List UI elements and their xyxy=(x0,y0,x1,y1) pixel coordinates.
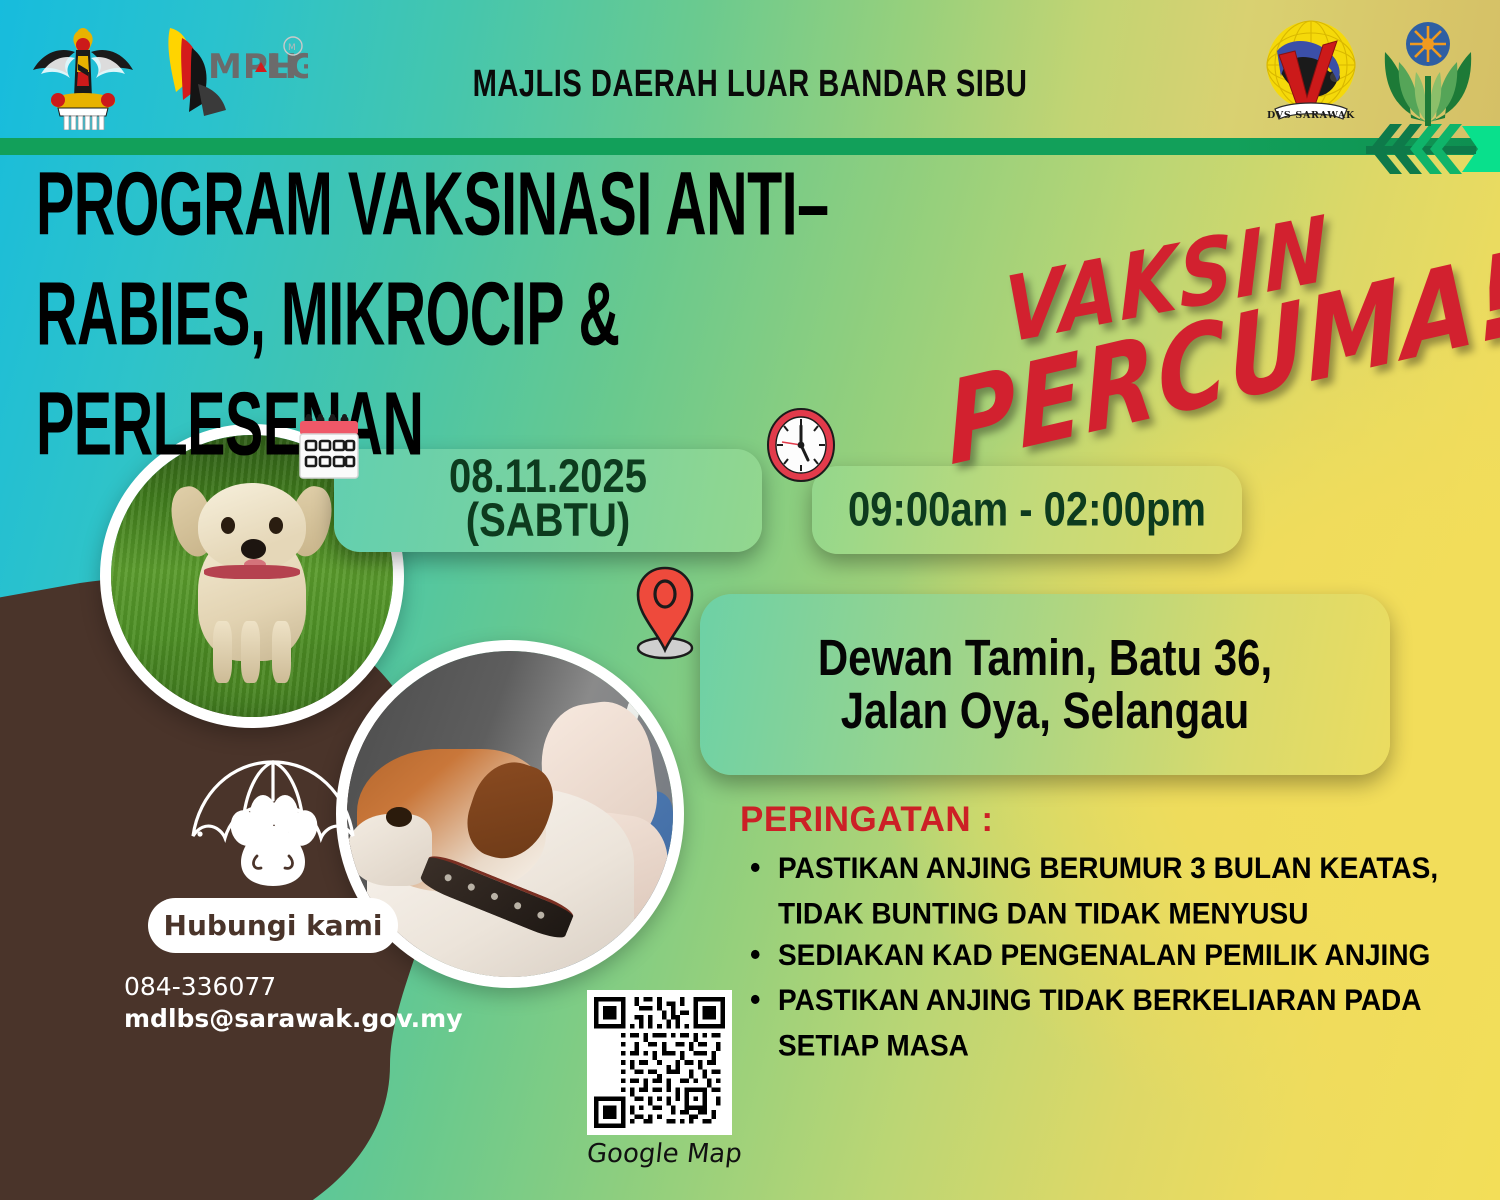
qr-code-icon[interactable] xyxy=(587,990,732,1135)
event-venue-pill: Dewan Tamin, Batu 36, Jalan Oya, Selanga… xyxy=(700,594,1390,775)
map-pin-icon xyxy=(629,564,701,662)
dvs-sarawak-logo-icon: DVS SARAWAK xyxy=(1255,15,1367,130)
poster-headline: PROGRAM VAKSINASI ANTI– RABIES, MIKROCIP… xyxy=(36,160,1076,490)
event-time: 09:00am - 02:00pm xyxy=(848,483,1206,537)
agriculture-ministry-logo-icon xyxy=(1375,18,1480,128)
header-green-divider xyxy=(0,138,1500,155)
reminder-section: PERINGATAN : PASTIKAN ANJING BERUMUR 3 B… xyxy=(740,800,1460,1065)
clock-icon xyxy=(766,408,836,482)
venue-line-2: Jalan Oya, Selangau xyxy=(818,679,1272,743)
reminder-title: PERINGATAN : xyxy=(740,800,1460,840)
reminder-list: PASTIKAN ANJING BERUMUR 3 BULAN KEATAS, … xyxy=(740,846,1460,1063)
event-day: (SABTU) xyxy=(449,496,647,547)
calendar-icon xyxy=(296,414,362,484)
contact-phone[interactable]: 084-336077 xyxy=(124,971,438,1003)
qr-code-label: Google Map xyxy=(585,1139,743,1169)
svg-text:M: M xyxy=(288,43,296,53)
hubungi-kami-button[interactable]: Hubungi kami xyxy=(148,898,398,953)
contact-details: 084-336077 mdlbs@sarawak.gov.my xyxy=(108,971,438,1035)
list-item: SEDIAKAN KAD PENGENALAN PEMILIK ANJING xyxy=(740,933,1460,978)
svg-text:DVS SARAWAK: DVS SARAWAK xyxy=(1267,110,1355,121)
list-item: PASTIKAN ANJING TIDAK BERKELIARAN PADA S… xyxy=(740,978,1460,1068)
mphlg-logo-icon: MPH LG M xyxy=(148,22,308,122)
contact-email[interactable]: mdlbs@sarawak.gov.my xyxy=(124,1003,438,1035)
headline-line-1: PROGRAM VAKSINASI ANTI– xyxy=(36,160,1066,250)
paw-umbrella-icon xyxy=(173,752,373,892)
list-item: PASTIKAN ANJING BERUMUR 3 BULAN KEATAS, … xyxy=(740,846,1460,936)
headline-line-2: RABIES, MIKROCIP & xyxy=(36,270,1066,360)
contact-block: Hubungi kami 084-336077 mdlbs@sarawak.go… xyxy=(108,752,438,1035)
poster-root: MAJLIS DAERAH LUAR BANDAR SIBU xyxy=(0,0,1500,1200)
headline-line-3: PERLESENAN xyxy=(36,380,1066,470)
google-map-qr-block[interactable]: Google Map xyxy=(587,990,742,1169)
sarawak-coat-of-arms-icon xyxy=(28,12,138,130)
